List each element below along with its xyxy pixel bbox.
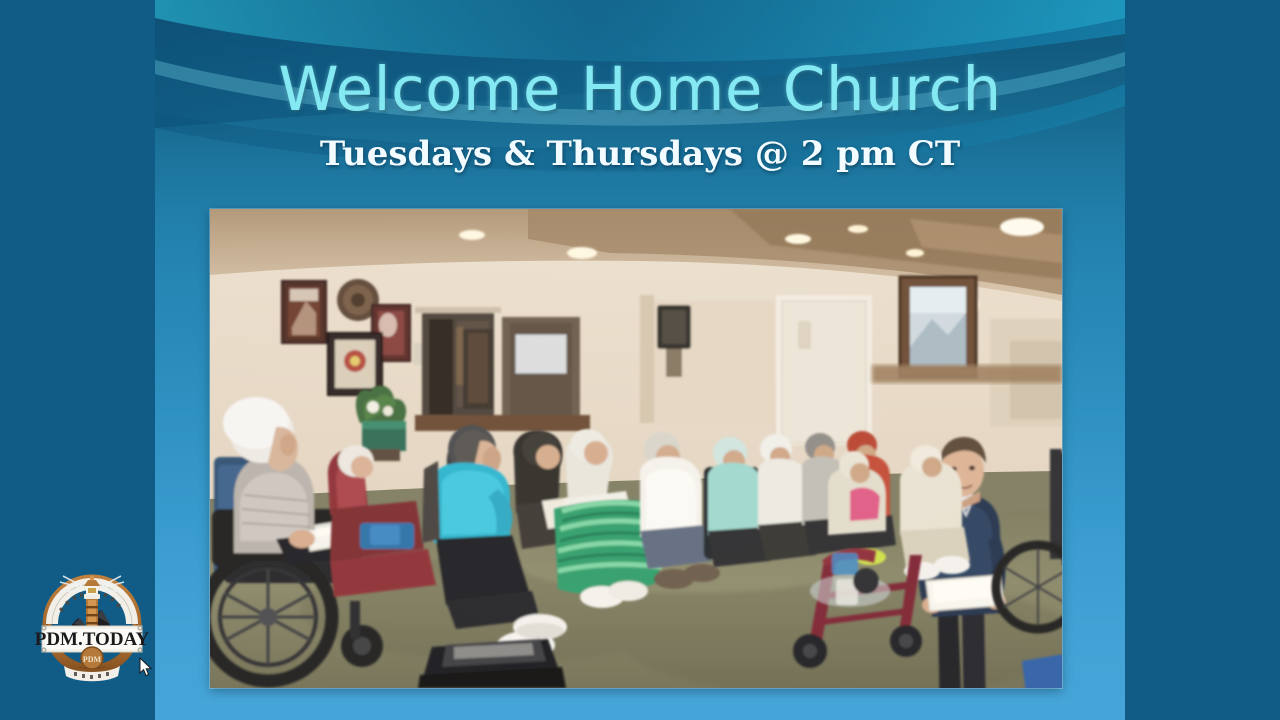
page-title: Welcome Home Church [155,54,1125,125]
slide-viewer: Welcome Home Church Tuesdays & Thursdays… [0,0,1280,720]
slide-subtitle: Tuesdays & Thursdays @ 2 pm CT [155,134,1125,174]
pdm-today-logo[interactable]: PDM.TODAY PDM [30,562,154,686]
logo-medallion-text: PDM [83,655,102,664]
presentation-slide: Welcome Home Church Tuesdays & Thursdays… [155,0,1125,720]
service-photo [210,209,1062,688]
pdm-today-logo-graphic: PDM.TODAY PDM [30,562,154,686]
frame-band-right [1125,0,1280,720]
service-photo-image [210,209,1062,688]
